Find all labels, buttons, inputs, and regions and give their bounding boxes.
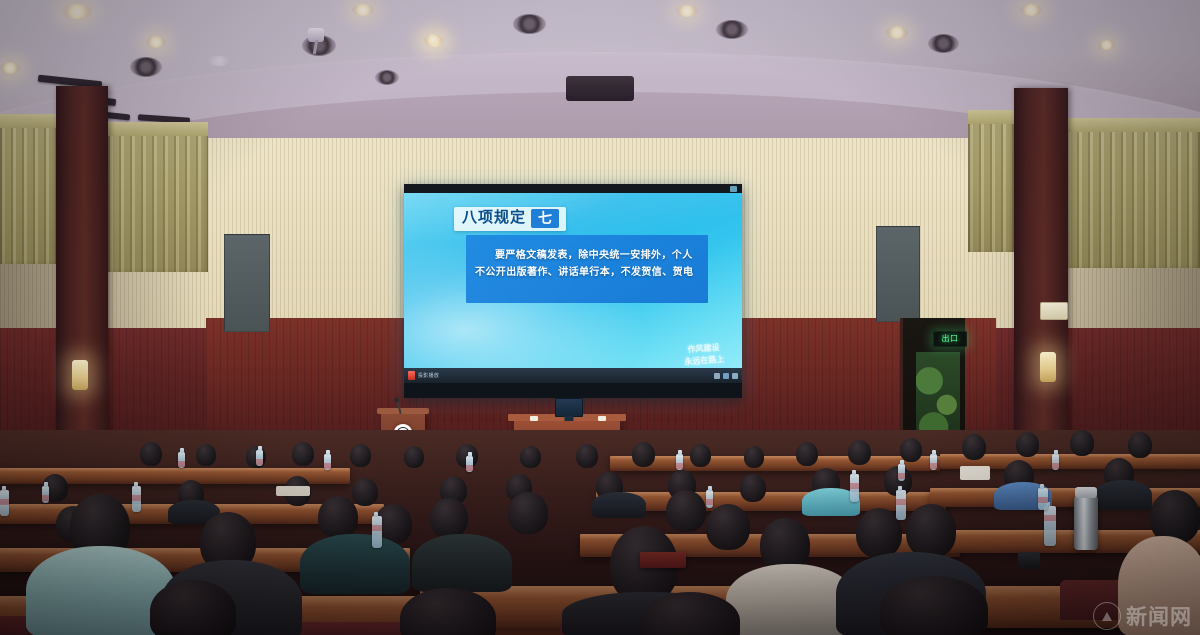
podium-top (377, 408, 429, 414)
slide-body-text: 要严格文稿发表，除中央统一安排外，个人不公开出版著作、讲话单行本，不发贺信、贺电 (475, 247, 699, 281)
ceiling-speaker-icon (375, 70, 399, 85)
ceiling-speaker-icon (130, 57, 162, 77)
audience-head (962, 434, 986, 460)
watermark: 新闻网 (1093, 601, 1192, 631)
wall-speaker-panel (876, 226, 920, 322)
wall-sconce-light (72, 360, 88, 390)
water-bottle (466, 456, 473, 472)
audience-head (196, 444, 216, 466)
audience-head (900, 438, 922, 462)
paper-sheet (276, 486, 310, 496)
water-bottle (896, 490, 906, 520)
window-curtain (1066, 118, 1200, 268)
ceiling-downlight (424, 34, 442, 45)
ceiling-downlight (352, 4, 374, 16)
water-bottle (42, 486, 49, 503)
audience-head (404, 446, 424, 468)
water-bottle (372, 516, 382, 548)
wall-switch-plate (1040, 302, 1068, 320)
wall-column (1014, 88, 1068, 448)
exit-sign-label: 出口 (942, 335, 959, 343)
water-bottle (1052, 454, 1059, 470)
paper-sheet (960, 466, 990, 480)
audience-head (352, 478, 378, 506)
audience-head (140, 442, 162, 466)
audience-head (744, 446, 764, 468)
notebook (640, 552, 686, 568)
ceiling-vent (208, 56, 230, 66)
ceiling-downlight (62, 4, 92, 19)
audience-head (880, 576, 988, 635)
name-card (598, 416, 606, 421)
water-bottle (178, 452, 185, 468)
projector-housing (566, 76, 634, 101)
audience-head (1128, 432, 1152, 458)
audience-head (508, 492, 548, 534)
audience-head (740, 474, 766, 502)
name-card (530, 416, 538, 421)
status-led-icon (730, 186, 737, 192)
stage-monitor (555, 398, 583, 417)
audience-head (430, 498, 468, 538)
ceiling-downlight (676, 5, 698, 17)
ceiling-speaker-icon (716, 20, 748, 39)
ceiling-downlight (1020, 4, 1042, 16)
audience-area (0, 430, 1200, 635)
ceiling-speaker-icon (513, 14, 546, 34)
screen-bezel (404, 184, 742, 193)
audience-head (906, 504, 956, 558)
audience-head (576, 444, 598, 468)
audience-head (1070, 430, 1094, 456)
water-bottle (706, 490, 713, 508)
slide-title-block: 八项规定 七 (454, 207, 566, 231)
audience-head (706, 504, 750, 550)
exit-sign: 出口 (933, 331, 967, 347)
audience-head (350, 444, 371, 467)
water-bottle (0, 490, 9, 516)
water-bottle (132, 486, 141, 512)
audience-head (632, 442, 655, 467)
news-site-logo-icon (1093, 602, 1121, 630)
app-icon[interactable] (408, 371, 415, 380)
audience-head (1016, 432, 1039, 457)
taskbar-app-label: 投影播放 (418, 372, 439, 379)
audience-shoulders (592, 492, 646, 518)
slide-number-badge: 七 (531, 209, 559, 228)
audience-shoulders (1094, 480, 1152, 510)
desktop-taskbar[interactable]: 投影播放 (404, 368, 742, 383)
audience-head (666, 490, 706, 532)
lecture-hall-photo: 出口 八项规定 七 要严格文稿发表，除中央统一安排外，个人不公开出版著作、讲话单… (0, 0, 1200, 635)
wall-speaker-panel (224, 234, 270, 332)
slide-body-panel: 要严格文稿发表，除中央统一安排外，个人不公开出版著作、讲话单行本，不发贺信、贺电 (466, 235, 708, 303)
tea-cup (1018, 552, 1040, 569)
audience-head (520, 446, 541, 468)
water-bottle (1044, 506, 1056, 546)
audience-head (690, 444, 711, 467)
ceiling-speaker-icon (928, 34, 959, 53)
water-bottle (324, 454, 331, 470)
ceiling-downlight (0, 62, 20, 74)
taskbar-app-group[interactable]: 投影播放 (408, 371, 439, 380)
water-bottle (898, 464, 905, 481)
network-icon[interactable] (714, 373, 720, 379)
ceiling-downlight (1098, 40, 1115, 50)
audience-head (292, 442, 314, 466)
water-bottle (930, 454, 937, 470)
ceiling-downlight (886, 26, 908, 39)
water-bottle (256, 450, 263, 466)
volume-icon[interactable] (723, 373, 729, 379)
water-bottle (1038, 488, 1048, 510)
wall-sconce-light (1040, 352, 1056, 382)
taskbar-system-tray[interactable] (714, 373, 738, 379)
water-bottle (850, 474, 859, 502)
audience-head (796, 442, 818, 466)
wall-column (56, 86, 108, 448)
audience-head (318, 496, 358, 538)
vacuum-flask (1074, 496, 1098, 550)
window-curtain (968, 110, 1014, 252)
audience-shoulders (300, 534, 410, 594)
slide-surface[interactable]: 八项规定 七 要严格文稿发表，除中央统一安排外，个人不公开出版著作、讲话单行本，… (404, 193, 742, 383)
audience-shoulders (412, 534, 512, 592)
audience-head (150, 580, 236, 635)
watermark-text: 新闻网 (1126, 601, 1192, 631)
window-curtain (0, 114, 58, 264)
water-bottle (676, 454, 683, 470)
audience-head (848, 440, 871, 465)
window-curtain (108, 122, 208, 272)
ceiling-downlight (146, 36, 166, 48)
battery-icon[interactable] (732, 373, 738, 379)
signature-line-2: 永远在路上 (684, 354, 725, 369)
projection-screen[interactable]: 八项规定 七 要严格文稿发表，除中央统一安排外，个人不公开出版著作、讲话单行本，… (404, 184, 742, 398)
slide-signature: 作风建设 永远在路上 (683, 342, 725, 369)
slide-title-text: 八项规定 (462, 210, 526, 227)
